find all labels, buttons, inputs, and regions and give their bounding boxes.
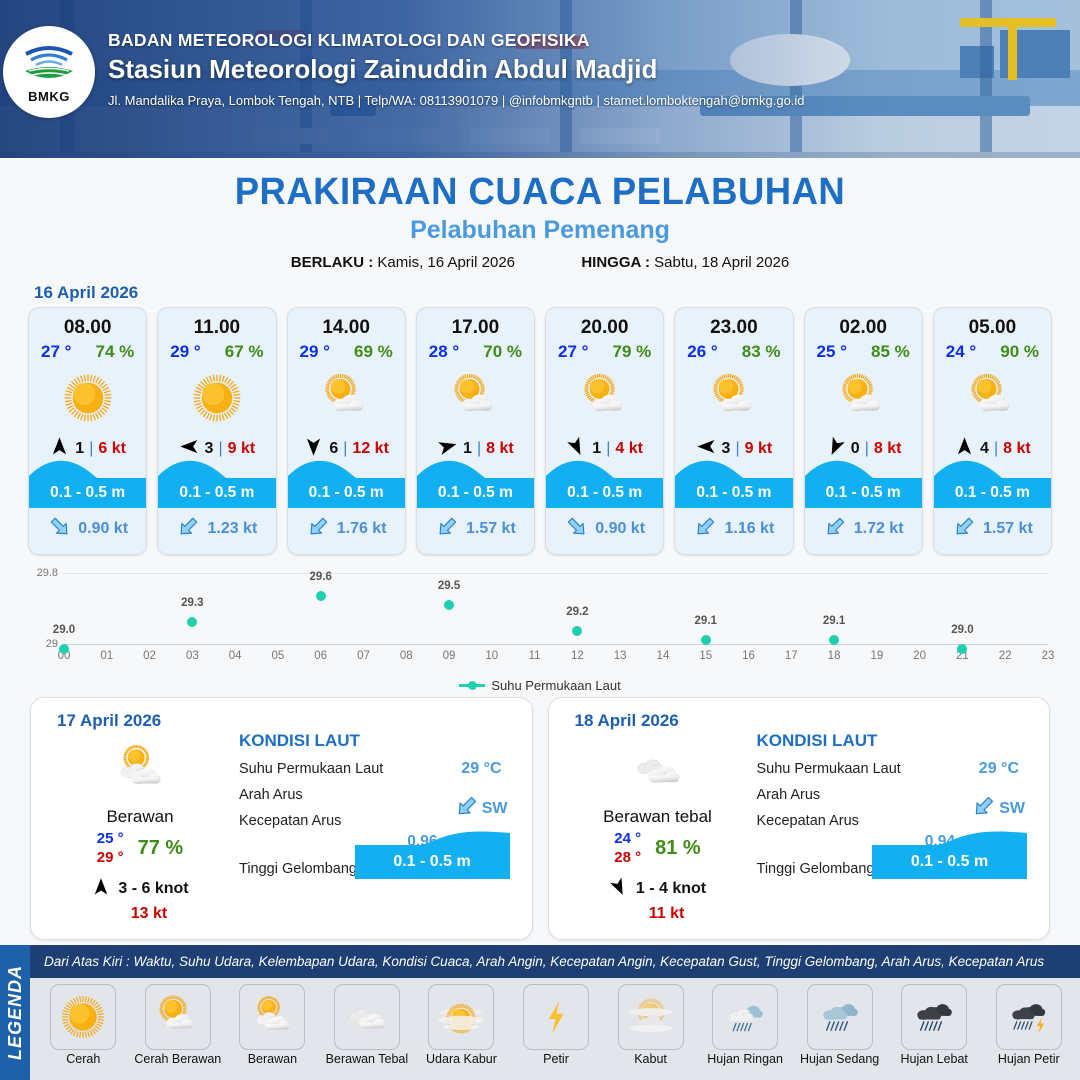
card-current-row: 1.72 kt bbox=[805, 512, 922, 546]
daily-temp-max: 28 ° bbox=[614, 849, 641, 868]
legend-item: Hujan Lebat bbox=[887, 984, 982, 1080]
current-speed-value: 1.23 kt bbox=[207, 520, 257, 538]
card-weather-icon bbox=[59, 366, 117, 430]
hourly-forecast-card: 11.00 29 ° 67 % 3 | 9 kt 0.1 - 0.5 m 1.2… bbox=[157, 307, 276, 555]
daily-wave-value: 0.1 - 0.5 m bbox=[872, 845, 1027, 879]
organization-name: BADAN METEOROLOGI KLIMATOLOGI DAN GEOFIS… bbox=[108, 30, 805, 51]
chart-data-point bbox=[957, 644, 967, 654]
card-humidity: 69 % bbox=[354, 342, 393, 362]
card-wave-zone: 0.1 - 0.5 m 0.90 kt bbox=[29, 454, 146, 554]
legend-item-label: Cerah Berawan bbox=[134, 1053, 221, 1067]
legend-icon-cerah bbox=[50, 984, 116, 1050]
legend-icon-cerah-berawan bbox=[145, 984, 211, 1050]
daily-condition: Berawan tebal bbox=[563, 807, 753, 827]
legend-item: Kabut bbox=[603, 984, 698, 1080]
legend-item-label: Berawan bbox=[248, 1053, 297, 1067]
current-speed-value: 1.57 kt bbox=[983, 520, 1033, 538]
card-wave-zone: 0.1 - 0.5 m 1.76 kt bbox=[288, 454, 405, 554]
page-header: BMKG BADAN METEOROLOGI KLIMATOLOGI DAN G… bbox=[0, 0, 1080, 158]
wave-height-band: 0.1 - 0.5 m bbox=[288, 478, 405, 508]
card-wave-zone: 0.1 - 0.5 m 1.16 kt bbox=[675, 454, 792, 554]
chart-gridline bbox=[64, 573, 1048, 574]
daily-gust: 11 kt bbox=[581, 905, 753, 923]
card-weather-icon bbox=[317, 366, 375, 430]
card-current-row: 1.57 kt bbox=[417, 512, 534, 546]
wave-height-value: 0.1 - 0.5 m bbox=[955, 484, 1030, 502]
card-humidity: 83 % bbox=[742, 342, 781, 362]
sea-condition-block: KONDISI LAUT Suhu Permukaan Laut 29 °C A… bbox=[239, 731, 522, 877]
chart-xtick: 23 bbox=[1042, 650, 1055, 662]
daily-left-block: Berawan tebal 24 ° 28 ° 81 % 1 - 4 knot … bbox=[563, 738, 753, 923]
current-speed-label: Kecepatan Arus bbox=[239, 813, 341, 829]
legend-item: Cerah bbox=[36, 984, 131, 1080]
current-speed-value: 1.72 kt bbox=[854, 520, 904, 538]
wave-height-value: 0.1 - 0.5 m bbox=[826, 484, 901, 502]
chart-data-point bbox=[701, 635, 711, 645]
bmkg-logo: BMKG bbox=[3, 26, 95, 118]
chart-point-label: 29.2 bbox=[566, 606, 588, 618]
daily-forecast-panel: 18 April 2026 Berawan tebal 24 ° 28 ° 81… bbox=[548, 697, 1051, 940]
wave-height-value: 0.1 - 0.5 m bbox=[696, 484, 771, 502]
sst-chart-legend: Suhu Permukaan Laut bbox=[0, 678, 1080, 693]
chart-ytick: 29.8 bbox=[37, 567, 58, 579]
current-direction-row: Arah Arus SW bbox=[239, 787, 522, 803]
current-speed-value: 1.76 kt bbox=[337, 520, 387, 538]
chart-point-label: 29.1 bbox=[823, 615, 845, 627]
wave-height-band: 0.1 - 0.5 m bbox=[805, 478, 922, 508]
wind-direction-arrow-icon bbox=[609, 877, 629, 902]
chart-xtick: 09 bbox=[443, 650, 456, 662]
legend-item-label: Petir bbox=[543, 1053, 569, 1067]
current-direction-arrow-icon bbox=[693, 514, 718, 544]
daily-left-block: Berawan 25 ° 29 ° 77 % 3 - 6 knot 13 kt bbox=[45, 738, 235, 923]
hourly-forecast-card: 14.00 29 ° 69 % 6 | 12 kt 0.1 - 0.5 m 1.… bbox=[287, 307, 406, 555]
card-weather-icon bbox=[446, 366, 504, 430]
card-temperature: 27 ° bbox=[558, 342, 588, 362]
chart-xtick: 11 bbox=[529, 650, 541, 662]
chart-xtick: 16 bbox=[742, 650, 755, 662]
legend-item-label: Hujan Lebat bbox=[900, 1053, 967, 1067]
card-current-row: 1.57 kt bbox=[934, 512, 1051, 546]
current-speed-value: 0.90 kt bbox=[78, 520, 128, 538]
card-wave-zone: 0.1 - 0.5 m 0.90 kt bbox=[546, 454, 663, 554]
daily-forecast-panel: 17 April 2026 Berawan 25 ° 29 ° 77 % 3 -… bbox=[30, 697, 533, 940]
valid-until-label: HINGGA : bbox=[581, 254, 650, 271]
header-text-block: BADAN METEOROLOGI KLIMATOLOGI DAN GEOFIS… bbox=[108, 30, 805, 108]
legend-icon-hujan-sedang bbox=[807, 984, 873, 1050]
legend-item-label: Hujan Sedang bbox=[800, 1053, 879, 1067]
wave-height-value: 0.1 - 0.5 m bbox=[438, 484, 513, 502]
hourly-forecast-card: 08.00 27 ° 74 % 1 | 6 kt 0.1 - 0.5 m 0.9… bbox=[28, 307, 147, 555]
valid-until-value: Sabtu, 18 April 2026 bbox=[654, 254, 789, 271]
card-humidity: 67 % bbox=[225, 342, 264, 362]
wave-height-label: Tinggi Gelombang bbox=[757, 861, 875, 877]
daily-temp-min: 25 ° bbox=[97, 830, 124, 849]
card-temperature: 28 ° bbox=[429, 342, 459, 362]
chart-xtick: 18 bbox=[828, 650, 841, 662]
card-wave-zone: 0.1 - 0.5 m 1.57 kt bbox=[417, 454, 534, 554]
current-direction-arrow-icon bbox=[306, 514, 331, 544]
card-time: 23.00 bbox=[710, 317, 758, 339]
chart-point-label: 29.5 bbox=[438, 580, 460, 592]
current-direction-arrow-icon bbox=[564, 514, 589, 544]
card-temperature: 27 ° bbox=[41, 342, 71, 362]
daily-humidity: 81 % bbox=[655, 837, 701, 860]
legend-item-label: Hujan Ringan bbox=[707, 1053, 783, 1067]
page-title: PRAKIRAAN CUACA PELABUHAN bbox=[22, 171, 1059, 214]
valid-from-label: BERLAKU : bbox=[291, 254, 374, 271]
sst-legend-label: Suhu Permukaan Laut bbox=[491, 678, 620, 693]
chart-xtick: 15 bbox=[699, 650, 712, 662]
legend-item: Hujan Petir bbox=[981, 984, 1076, 1080]
card-current-row: 0.90 kt bbox=[29, 512, 146, 546]
chart-xtick: 14 bbox=[657, 650, 670, 662]
legend-item: Hujan Ringan bbox=[698, 984, 793, 1080]
daily-forecast-panels: 17 April 2026 Berawan 25 ° 29 ° 77 % 3 -… bbox=[0, 697, 1080, 940]
card-temperature: 26 ° bbox=[687, 342, 717, 362]
legend-item: Berawan Tebal bbox=[320, 984, 415, 1080]
hourly-forecast-list: 08.00 27 ° 74 % 1 | 6 kt 0.1 - 0.5 m 0.9… bbox=[0, 307, 1080, 555]
current-direction-label: Arah Arus bbox=[239, 787, 303, 803]
card-weather-icon bbox=[188, 366, 246, 430]
legend-icon-berawan bbox=[239, 984, 305, 1050]
card-humidity: 79 % bbox=[612, 342, 651, 362]
current-speed-label: Kecepatan Arus bbox=[757, 813, 859, 829]
daily-humidity: 77 % bbox=[138, 837, 184, 860]
legend-item: Petir bbox=[509, 984, 604, 1080]
current-direction-arrow-icon bbox=[952, 514, 977, 544]
daily-wind-range: 1 - 4 knot bbox=[636, 880, 706, 898]
current-direction-label: Arah Arus bbox=[757, 787, 821, 803]
hourly-forecast-card: 20.00 27 ° 79 % 1 | 4 kt 0.1 - 0.5 m 0.9… bbox=[545, 307, 664, 555]
card-time: 11.00 bbox=[194, 317, 241, 339]
daily-temp-min: 24 ° bbox=[614, 830, 641, 849]
chart-axis-line bbox=[64, 644, 1048, 645]
card-temperature: 24 ° bbox=[946, 342, 976, 362]
daily-weather-icon bbox=[563, 738, 753, 800]
daily-wind-row: 3 - 6 knot bbox=[45, 877, 235, 902]
card-current-row: 1.76 kt bbox=[288, 512, 405, 546]
card-time: 20.00 bbox=[581, 317, 629, 339]
wave-height-band: 0.1 - 0.5 m bbox=[417, 478, 534, 508]
legend-note-bar: Dari Atas Kiri : Waktu, Suhu Udara, Kele… bbox=[30, 945, 1080, 978]
daily-wave-graphic: 0.1 - 0.5 m bbox=[355, 827, 510, 879]
contact-info: Jl. Mandalika Praya, Lombok Tengah, NTB … bbox=[108, 93, 805, 108]
card-weather-icon bbox=[963, 366, 1021, 430]
page-subtitle: Pelabuhan Pemenang bbox=[0, 216, 1080, 245]
sea-condition-title: KONDISI LAUT bbox=[757, 731, 1040, 751]
current-direction-row: Arah Arus SW bbox=[757, 787, 1040, 803]
chart-point-label: 29.1 bbox=[695, 615, 717, 627]
chart-point-label: 29.6 bbox=[309, 571, 331, 583]
legend-item-label: Hujan Petir bbox=[998, 1053, 1060, 1067]
chart-xtick: 12 bbox=[571, 650, 584, 662]
current-direction-arrow-icon bbox=[435, 514, 460, 544]
card-temperature: 25 ° bbox=[817, 342, 847, 362]
chart-xtick: 13 bbox=[614, 650, 627, 662]
legend-item: Udara Kabur bbox=[414, 984, 509, 1080]
hourly-forecast-card: 17.00 28 ° 70 % 1 | 8 kt 0.1 - 0.5 m 1.5… bbox=[416, 307, 535, 555]
current-direction-arrow-icon bbox=[47, 514, 72, 544]
wave-height-band: 0.1 - 0.5 m bbox=[934, 478, 1051, 508]
station-name: Stasiun Meteorologi Zainuddin Abdul Madj… bbox=[108, 54, 805, 85]
daily-wave-value: 0.1 - 0.5 m bbox=[355, 845, 510, 879]
card-time: 02.00 bbox=[839, 317, 887, 339]
wave-height-band: 0.1 - 0.5 m bbox=[29, 478, 146, 508]
card-weather-icon bbox=[834, 366, 892, 430]
chart-data-point bbox=[572, 626, 582, 636]
daily-date: 18 April 2026 bbox=[575, 711, 679, 731]
current-speed-value: 1.57 kt bbox=[466, 520, 516, 538]
chart-xtick: 20 bbox=[913, 650, 926, 662]
legend-icon-udara-kabur bbox=[428, 984, 494, 1050]
card-current-row: 1.16 kt bbox=[675, 512, 792, 546]
chart-xtick: 01 bbox=[100, 650, 113, 662]
current-direction-arrow-icon bbox=[823, 514, 848, 544]
legend-item-label: Berawan Tebal bbox=[326, 1053, 408, 1067]
legend-icon-kabut bbox=[618, 984, 684, 1050]
card-current-row: 1.23 kt bbox=[158, 512, 275, 546]
wave-height-value: 0.1 - 0.5 m bbox=[567, 484, 642, 502]
card-weather-icon bbox=[576, 366, 634, 430]
logo-label: BMKG bbox=[28, 89, 70, 104]
daily-temp-max: 29 ° bbox=[97, 849, 124, 868]
hourly-date-label: 16 April 2026 bbox=[34, 283, 1080, 303]
wave-height-value: 0.1 - 0.5 m bbox=[309, 484, 384, 502]
legend-icon-hujan-petir bbox=[996, 984, 1062, 1050]
daily-temp-row: 24 ° 28 ° 81 % bbox=[563, 830, 753, 868]
daily-gust: 13 kt bbox=[63, 905, 235, 923]
chart-xtick: 19 bbox=[870, 650, 883, 662]
chart-xtick: 02 bbox=[143, 650, 156, 662]
card-humidity: 85 % bbox=[871, 342, 910, 362]
valid-from-value: Kamis, 16 April 2026 bbox=[377, 254, 515, 271]
chart-data-point bbox=[59, 644, 69, 654]
legend-item-label: Udara Kabur bbox=[426, 1053, 497, 1067]
legend-section: LEGENDA Dari Atas Kiri : Waktu, Suhu Uda… bbox=[0, 945, 1080, 1080]
card-wave-zone: 0.1 - 0.5 m 1.23 kt bbox=[158, 454, 275, 554]
legend-item: Berawan bbox=[225, 984, 320, 1080]
chart-point-label: 29.0 bbox=[951, 624, 973, 636]
sst-value: 29 °C bbox=[979, 760, 1019, 778]
current-direction-arrow-icon bbox=[176, 514, 201, 544]
sst-row: Suhu Permukaan Laut 29 °C bbox=[239, 761, 522, 777]
daily-wind-row: 1 - 4 knot bbox=[563, 877, 753, 902]
card-humidity: 70 % bbox=[483, 342, 522, 362]
chart-data-point bbox=[187, 617, 197, 627]
card-humidity: 74 % bbox=[95, 342, 134, 362]
legend-icon-berawan-tebal bbox=[334, 984, 400, 1050]
daily-wind-range: 3 - 6 knot bbox=[118, 880, 188, 898]
current-speed-value: 0.90 kt bbox=[595, 520, 645, 538]
legend-side-title: LEGENDA bbox=[5, 965, 26, 1060]
wave-height-band: 0.1 - 0.5 m bbox=[675, 478, 792, 508]
legend-item-label: Kabut bbox=[634, 1053, 667, 1067]
card-current-row: 0.90 kt bbox=[546, 512, 663, 546]
wave-height-band: 0.1 - 0.5 m bbox=[158, 478, 275, 508]
current-speed-value: 1.16 kt bbox=[724, 520, 774, 538]
card-time: 14.00 bbox=[322, 317, 370, 339]
chart-xtick: 03 bbox=[186, 650, 199, 662]
card-temperature: 29 ° bbox=[300, 342, 330, 362]
wind-direction-arrow-icon bbox=[91, 877, 111, 902]
wave-height-value: 0.1 - 0.5 m bbox=[179, 484, 254, 502]
chart-data-point bbox=[829, 635, 839, 645]
chart-xtick: 08 bbox=[400, 650, 413, 662]
chart-xtick: 04 bbox=[229, 650, 242, 662]
daily-weather-icon bbox=[45, 738, 235, 800]
chart-point-label: 29.0 bbox=[53, 624, 75, 636]
legend-side-bar: LEGENDA bbox=[0, 945, 30, 1080]
daily-date: 17 April 2026 bbox=[57, 711, 161, 731]
daily-temp-row: 25 ° 29 ° 77 % bbox=[45, 830, 235, 868]
legend-icon-hujan-ringan bbox=[712, 984, 778, 1050]
chart-xtick: 05 bbox=[272, 650, 285, 662]
chart-point-label: 29.3 bbox=[181, 597, 203, 609]
hourly-forecast-card: 05.00 24 ° 90 % 4 | 8 kt 0.1 - 0.5 m 1.5… bbox=[933, 307, 1052, 555]
card-time: 05.00 bbox=[969, 317, 1017, 339]
chart-xtick: 17 bbox=[785, 650, 798, 662]
sea-condition-block: KONDISI LAUT Suhu Permukaan Laut 29 °C A… bbox=[757, 731, 1040, 877]
bmkg-logo-mark bbox=[20, 40, 78, 88]
chart-ytick: 29 bbox=[46, 638, 58, 650]
card-humidity: 90 % bbox=[1000, 342, 1039, 362]
card-wave-zone: 0.1 - 0.5 m 1.72 kt bbox=[805, 454, 922, 554]
card-temperature: 29 ° bbox=[170, 342, 200, 362]
legend-item: Hujan Sedang bbox=[792, 984, 887, 1080]
wave-height-value: 0.1 - 0.5 m bbox=[50, 484, 125, 502]
sea-condition-title: KONDISI LAUT bbox=[239, 731, 522, 751]
sst-value: 29 °C bbox=[461, 760, 501, 778]
legend-icon-hujan-lebat bbox=[901, 984, 967, 1050]
card-time: 08.00 bbox=[64, 317, 112, 339]
legend-item: Cerah Berawan bbox=[131, 984, 226, 1080]
card-wave-zone: 0.1 - 0.5 m 1.57 kt bbox=[934, 454, 1051, 554]
wave-height-band: 0.1 - 0.5 m bbox=[546, 478, 663, 508]
sst-label: Suhu Permukaan Laut bbox=[239, 761, 383, 777]
hourly-forecast-card: 02.00 25 ° 85 % 0 | 8 kt 0.1 - 0.5 m 1.7… bbox=[804, 307, 923, 555]
hourly-forecast-card: 23.00 26 ° 83 % 3 | 9 kt 0.1 - 0.5 m 1.1… bbox=[674, 307, 793, 555]
chart-xtick: 06 bbox=[314, 650, 327, 662]
sst-row: Suhu Permukaan Laut 29 °C bbox=[757, 761, 1040, 777]
chart-xtick: 07 bbox=[357, 650, 370, 662]
validity-row: BERLAKU : Kamis, 16 April 2026 HINGGA : … bbox=[0, 254, 1080, 271]
sst-chart-plot: 29.8290001020304050607080910111213141516… bbox=[64, 573, 1048, 644]
chart-data-point bbox=[444, 600, 454, 610]
chart-xtick: 10 bbox=[485, 650, 498, 662]
card-weather-icon bbox=[705, 366, 763, 430]
chart-xtick: 22 bbox=[999, 650, 1012, 662]
sst-label: Suhu Permukaan Laut bbox=[757, 761, 901, 777]
wave-height-label: Tinggi Gelombang bbox=[239, 861, 357, 877]
sst-chart: 29.8290001020304050607080910111213141516… bbox=[20, 567, 1060, 672]
daily-condition: Berawan bbox=[45, 807, 235, 827]
legend-marker-icon bbox=[459, 684, 485, 687]
legend-icon-petir bbox=[523, 984, 589, 1050]
chart-data-point bbox=[316, 591, 326, 601]
legend-note: Dari Atas Kiri : Waktu, Suhu Udara, Kele… bbox=[30, 954, 1044, 969]
card-time: 17.00 bbox=[452, 317, 500, 339]
legend-item-label: Cerah bbox=[66, 1053, 100, 1067]
title-section: PRAKIRAAN CUACA PELABUHAN Pelabuhan Peme… bbox=[0, 158, 1080, 271]
legend-icon-list: Cerah Cerah Berawan Berawan Berawan Teba… bbox=[30, 978, 1080, 1080]
daily-wave-graphic: 0.1 - 0.5 m bbox=[872, 827, 1027, 879]
